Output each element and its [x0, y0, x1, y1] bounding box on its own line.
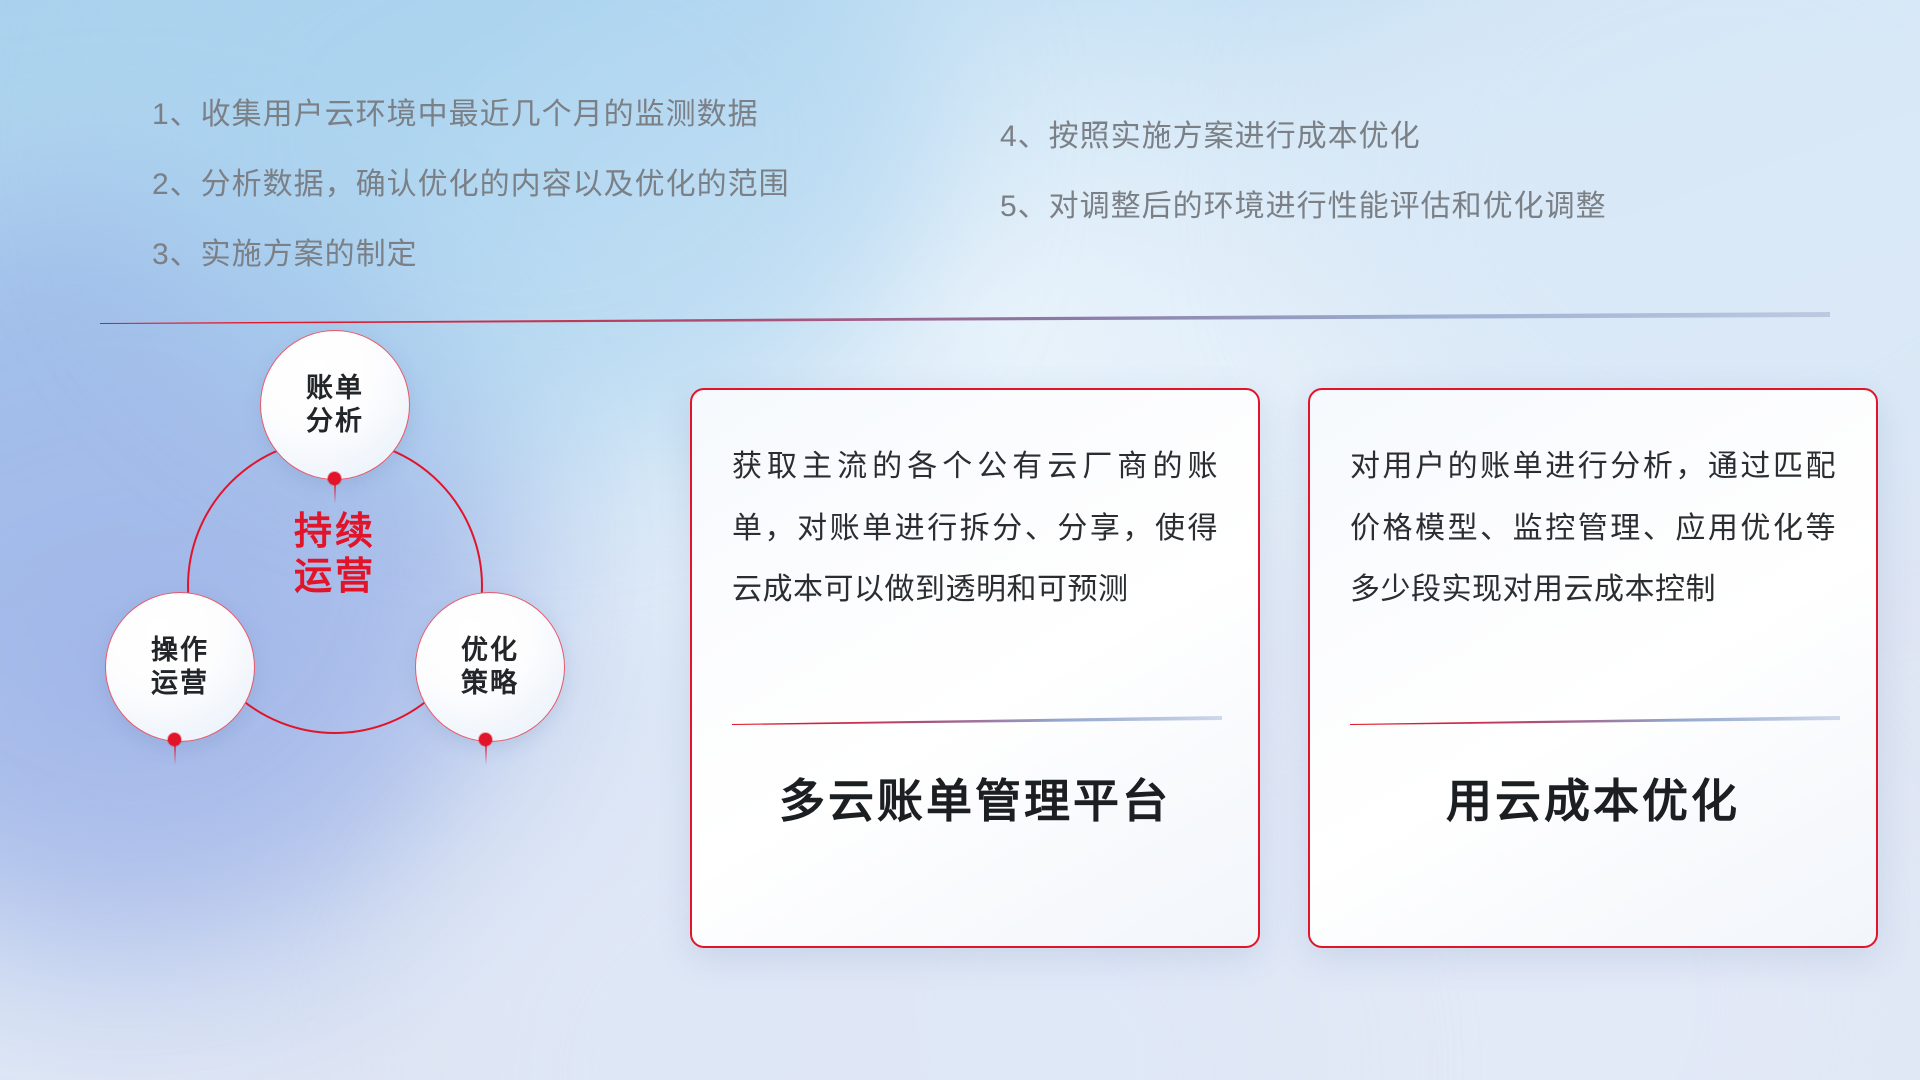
venn-center-line-1: 持续	[187, 510, 483, 555]
steps-left-column: 1、收集用户云环境中最近几个月的监测数据 2、分析数据，确认优化的内容以及优化的…	[152, 100, 790, 270]
feature-card-multicloud-billing-rule	[732, 712, 1218, 722]
card-rule-shape	[1350, 715, 1840, 725]
venn-bubble-optimization-strategy[interactable]: 优化 策略	[415, 592, 565, 742]
venn-bubble-bill-analysis-line-2: 分析	[306, 405, 364, 438]
venn-bubble-operations-line-1: 操作	[151, 634, 209, 667]
venn-bubble-operations[interactable]: 操作 运营	[105, 592, 255, 742]
venn-node-dot-top	[328, 472, 341, 485]
step-item-2: 2、分析数据，确认优化的内容以及优化的范围	[152, 170, 790, 200]
card-rule-shape	[732, 715, 1222, 725]
feature-card-multicloud-billing[interactable]: 获取主流的各个公有云厂商的账单，对账单进行拆分、分享，使得云成本可以做到透明和可…	[690, 388, 1260, 948]
venn-bubble-operations-line-2: 运营	[151, 667, 209, 700]
feature-card-cloud-cost-optimization-body: 对用户的账单进行分析，通过匹配价格模型、监控管理、应用优化等多少段实现对用云成本…	[1350, 436, 1836, 686]
feature-card-multicloud-billing-body: 获取主流的各个公有云厂商的账单，对账单进行拆分、分享，使得云成本可以做到透明和可…	[732, 436, 1218, 686]
section-divider	[100, 311, 1830, 323]
step-item-3: 3、实施方案的制定	[152, 240, 790, 270]
venn-bubble-bill-analysis-line-1: 账单	[306, 372, 364, 405]
steps-right-column: 4、按照实施方案进行成本优化 5、对调整后的环境进行性能评估和优化调整	[1000, 122, 1607, 222]
venn-bubble-bill-analysis[interactable]: 账单 分析	[260, 330, 410, 480]
venn-node-tail-right	[485, 743, 487, 765]
divider-shape	[100, 312, 1830, 324]
feature-card-cloud-cost-optimization[interactable]: 对用户的账单进行分析，通过匹配价格模型、监控管理、应用优化等多少段实现对用云成本…	[1308, 388, 1878, 948]
step-item-5: 5、对调整后的环境进行性能评估和优化调整	[1000, 192, 1607, 222]
step-item-1: 1、收集用户云环境中最近几个月的监测数据	[152, 100, 790, 130]
venn-node-tail-left	[174, 743, 176, 765]
venn-bubble-optimization-strategy-line-1: 优化	[461, 634, 519, 667]
slide-canvas: 1、收集用户云环境中最近几个月的监测数据 2、分析数据，确认优化的内容以及优化的…	[0, 0, 1920, 1080]
venn-node-dot-left	[168, 733, 181, 746]
feature-card-multicloud-billing-title: 多云账单管理平台	[732, 776, 1218, 827]
venn-center-label: 持续 运营	[187, 510, 483, 600]
venn-diagram: 持续 运营 账单 分析 操作 运营 优化 策略	[95, 330, 655, 850]
venn-node-tail-top	[334, 482, 336, 504]
venn-bubble-optimization-strategy-line-2: 策略	[461, 667, 519, 700]
step-item-4: 4、按照实施方案进行成本优化	[1000, 122, 1607, 152]
venn-node-dot-right	[479, 733, 492, 746]
venn-center-line-2: 运营	[187, 555, 483, 600]
feature-card-cloud-cost-optimization-rule	[1350, 712, 1836, 722]
feature-card-cloud-cost-optimization-title: 用云成本优化	[1350, 776, 1836, 827]
